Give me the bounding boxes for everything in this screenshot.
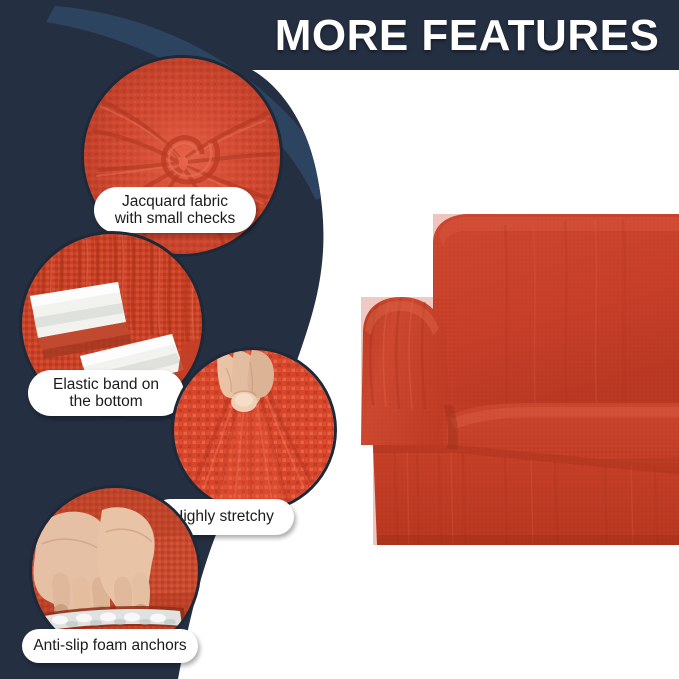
feature-image-stretchy: [174, 350, 334, 510]
sofa-skirt: [373, 445, 679, 545]
sofa-slipcover-illustration: [355, 205, 679, 550]
feature-caption-jacquard: Jacquard fabric with small checks: [94, 187, 256, 233]
caption-line-1: Anti-slip foam anchors: [33, 637, 186, 654]
sofa-left-arm: [361, 297, 455, 445]
feature-caption-elastic-band: Elastic band on the bottom: [28, 370, 184, 416]
stretchy-fabric-photo: [174, 350, 334, 510]
feature-caption-foam-anchors: Anti-slip foam anchors: [22, 629, 198, 663]
caption-line-1: Elastic band on: [53, 376, 159, 393]
caption-line-2: the bottom: [69, 393, 142, 410]
page-title: MORE FEATURES: [255, 8, 679, 64]
infographic-canvas: MORE FEATURES: [0, 0, 679, 679]
caption-line-1: Jacquard fabric: [122, 193, 228, 210]
caption-line-2: with small checks: [115, 210, 236, 227]
sofa-backrest: [433, 214, 679, 415]
product-image-sofa: [355, 205, 679, 550]
